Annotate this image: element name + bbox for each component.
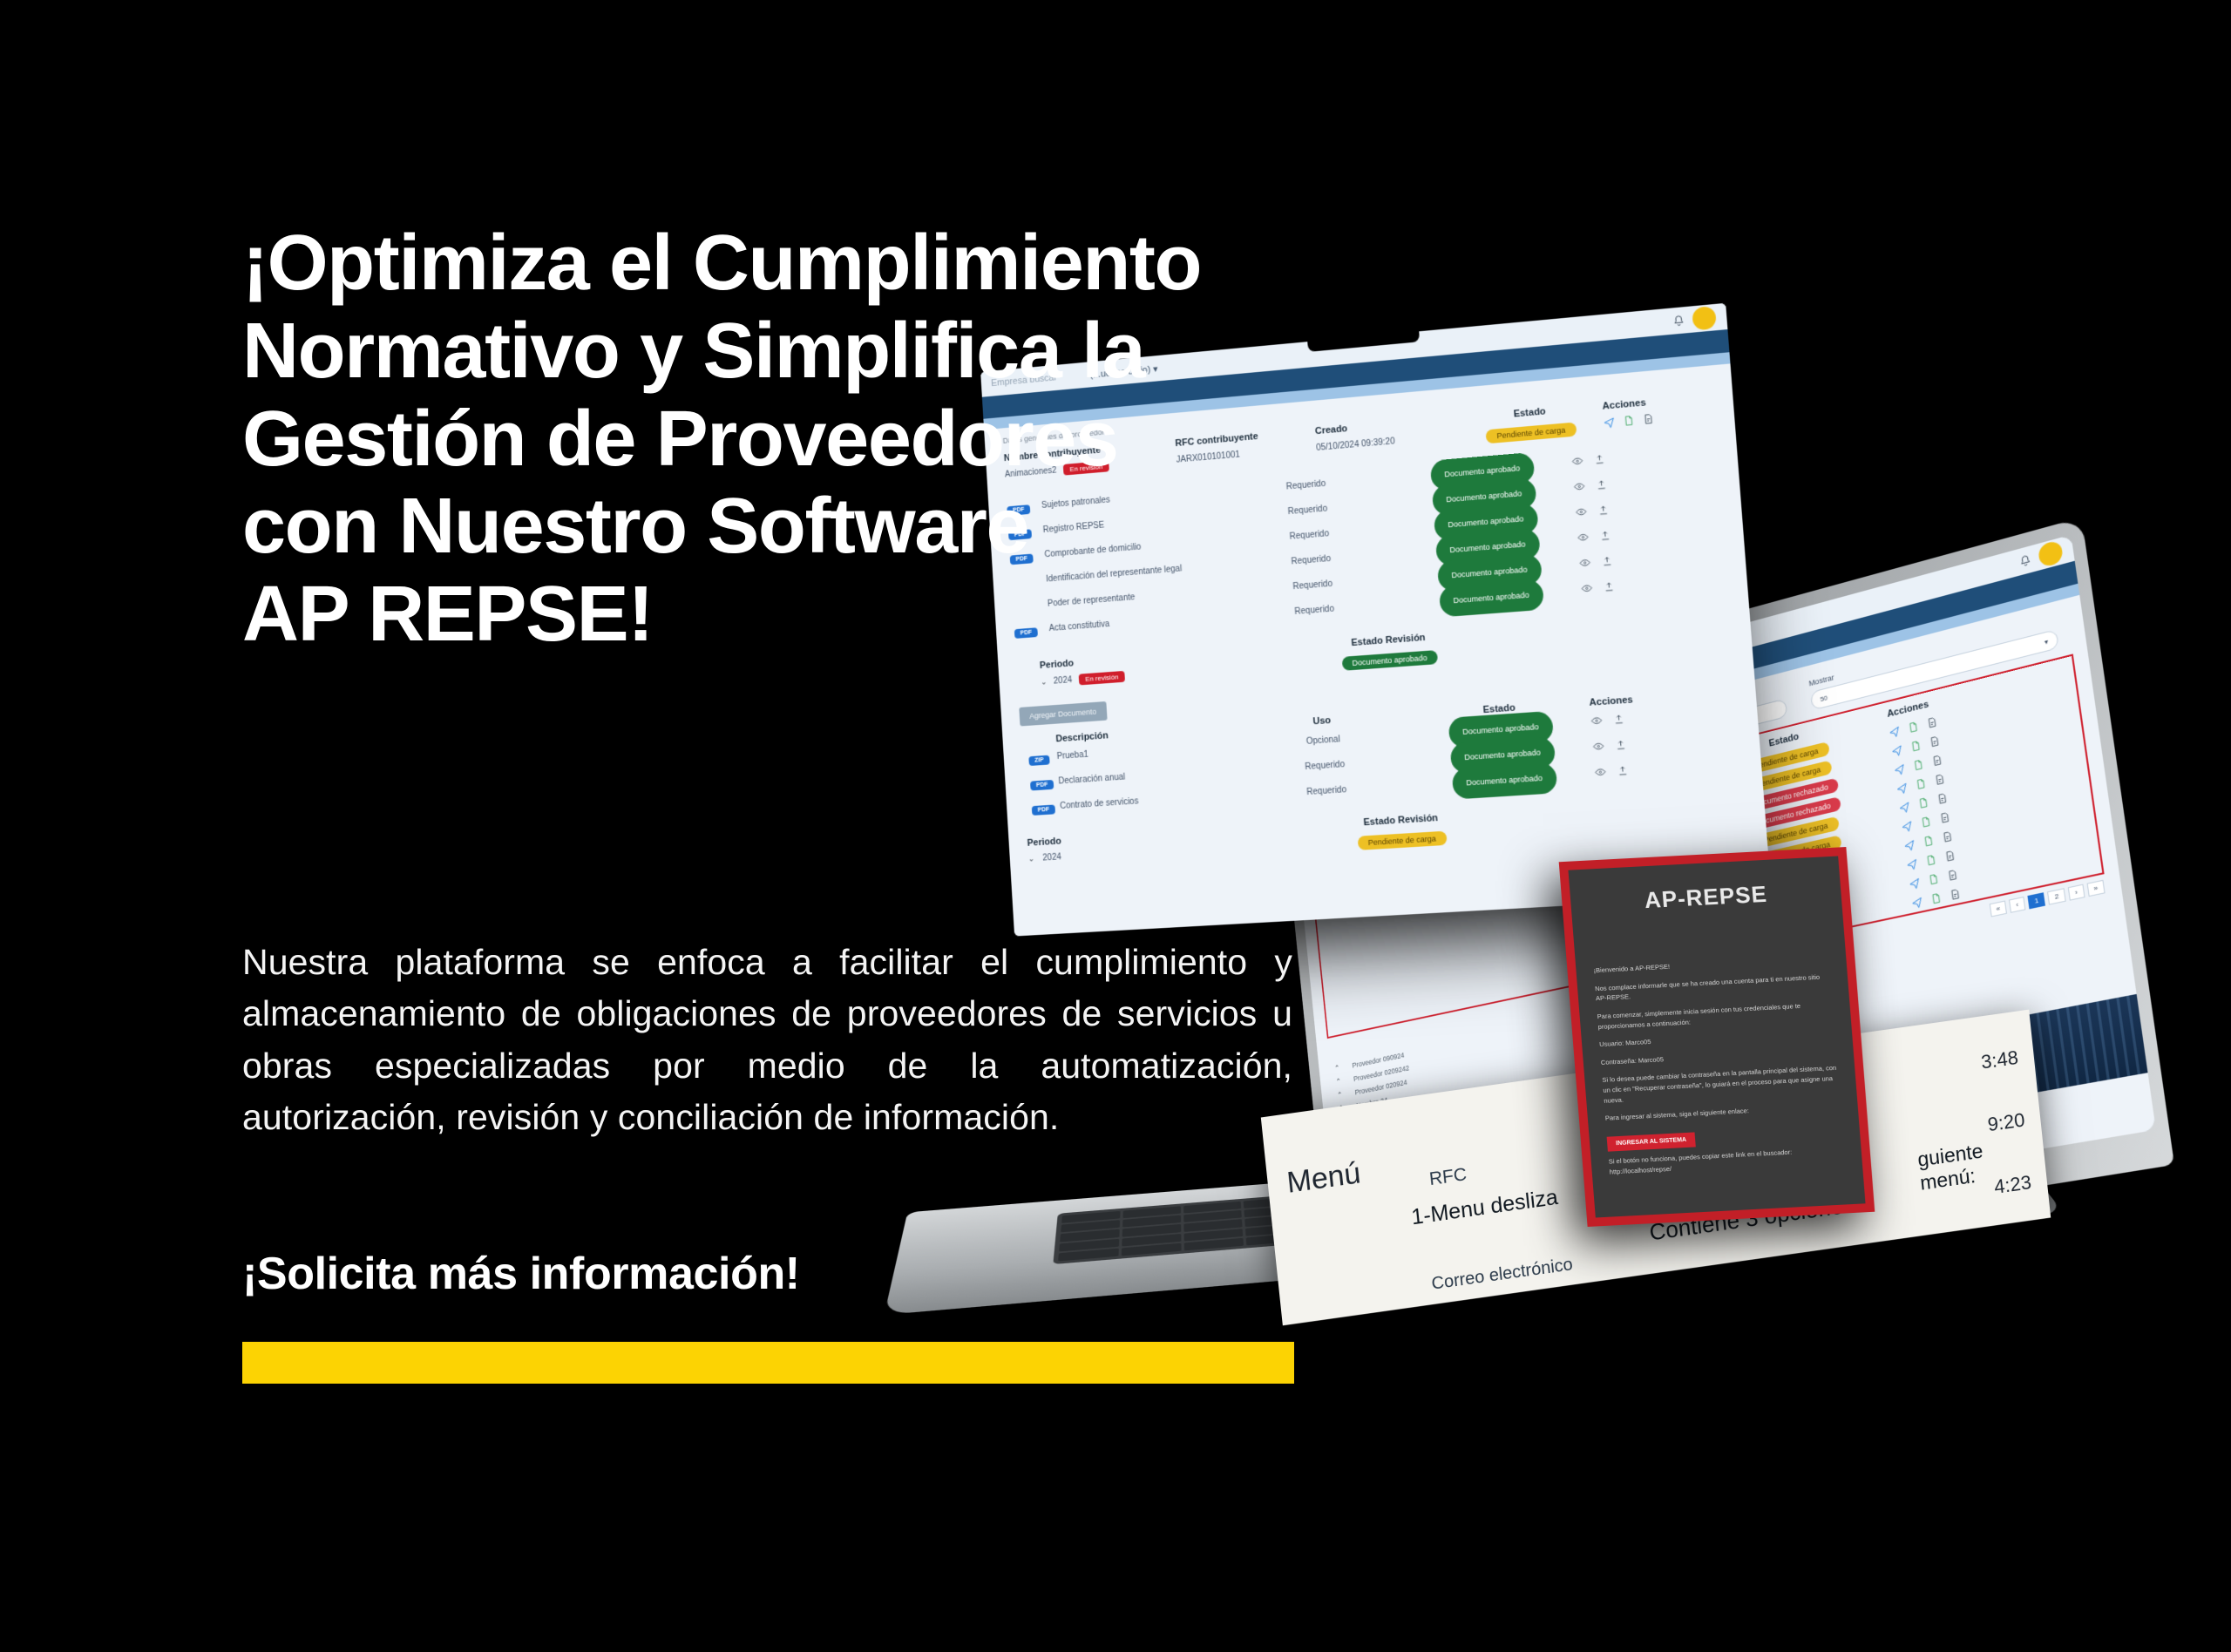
guide-note-1: 1-Menu desliza: [1410, 1185, 1559, 1230]
upload-icon[interactable]: [1614, 739, 1626, 751]
pagination-button[interactable]: ›: [2068, 884, 2085, 901]
eye-icon[interactable]: [1571, 455, 1583, 467]
upload-icon[interactable]: [1597, 504, 1610, 516]
file-type-chip: ZIP: [1028, 755, 1049, 765]
send-icon[interactable]: [1909, 876, 1921, 890]
document-icon[interactable]: [1912, 757, 1924, 771]
edit-document-icon[interactable]: [1947, 868, 1960, 882]
upload-icon[interactable]: [1595, 478, 1607, 491]
email-card-inner: AP-REPSE ¡Bienvenido a AP-REPSE! Nos com…: [1568, 856, 1865, 1218]
edit-document-icon[interactable]: [1643, 413, 1655, 425]
annual-estado-column: Estado Documento aprobadoDocumento aprob…: [1410, 698, 1596, 797]
eye-icon[interactable]: [1581, 582, 1593, 594]
email-paragraph-1: Nos complace informarle que se ha creado…: [1595, 972, 1832, 1004]
period-value: 2024: [1054, 675, 1073, 686]
upload-icon[interactable]: [1599, 530, 1611, 542]
edit-document-icon[interactable]: [1939, 810, 1952, 824]
hero-description: Nuestra plataforma se enfoca a facilitar…: [242, 937, 1292, 1144]
guide-time: 9:20: [1987, 1109, 2026, 1137]
send-icon[interactable]: [1911, 895, 1924, 909]
send-icon[interactable]: [1889, 724, 1901, 738]
period-block-2: Periodo ⌄ 2024: [1027, 824, 1254, 863]
edit-document-icon[interactable]: [1931, 753, 1944, 767]
pagination-button[interactable]: ‹: [2009, 897, 2025, 913]
created-block: Creado 05/10/2024 09:39:20: [1315, 414, 1460, 453]
chevron-up-icon: ⌃: [1337, 1090, 1343, 1100]
documents-estado-column: Documento aprobadoDocumento aprobadoDocu…: [1393, 449, 1582, 614]
status-badge: Documento aprobado: [1341, 650, 1438, 671]
chevron-up-icon: ⌃: [1334, 1063, 1340, 1073]
add-document-button[interactable]: Agregar Documento: [1019, 701, 1107, 727]
document-icon[interactable]: [1922, 834, 1936, 848]
send-icon[interactable]: [1903, 838, 1916, 852]
send-icon[interactable]: [1906, 856, 1918, 870]
document-icon[interactable]: [1930, 891, 1943, 905]
send-icon[interactable]: [1891, 743, 1903, 757]
avatar[interactable]: [1692, 306, 1717, 331]
file-type-chip: PDF: [1032, 804, 1055, 816]
send-icon[interactable]: [1899, 800, 1911, 814]
chevron-up-icon: ⌃: [1335, 1077, 1341, 1087]
upload-icon[interactable]: [1603, 580, 1615, 592]
eye-icon[interactable]: [1592, 741, 1604, 753]
email-paragraph-2: Para comenzar, simplemente inicia sesión…: [1597, 999, 1834, 1032]
guide-field-rfc: RFC: [1428, 1164, 1468, 1190]
guide-time: 3:48: [1980, 1046, 2019, 1074]
period2-value: 2024: [1042, 852, 1061, 863]
email-paragraph-3: Si lo desea puede cambiar la contraseña …: [1602, 1063, 1839, 1106]
send-icon[interactable]: [1894, 762, 1906, 776]
bell-icon[interactable]: [1672, 314, 1686, 328]
upload-icon[interactable]: [1612, 713, 1624, 725]
actions-block: Acciones: [1602, 392, 1714, 429]
page-title: ¡Optimiza el Cumplimiento Normativo y Si…: [242, 220, 1314, 659]
document-icon[interactable]: [1928, 872, 1941, 886]
eye-icon[interactable]: [1577, 531, 1589, 544]
document-icon[interactable]: [1917, 796, 1929, 809]
document-icon[interactable]: [1910, 739, 1922, 753]
accent-bar: [242, 1342, 1294, 1384]
upload-icon[interactable]: [1593, 453, 1605, 465]
eye-icon[interactable]: [1575, 505, 1587, 518]
bell-icon[interactable]: [2017, 552, 2032, 569]
review-block-2: Estado Revisión Pendiente de carga: [1252, 806, 1553, 856]
upload-icon[interactable]: [1601, 555, 1613, 567]
send-icon[interactable]: [1902, 819, 1914, 833]
document-icon[interactable]: [1920, 815, 1933, 829]
guide-menu-title: Menú: [1285, 1156, 1362, 1201]
file-type-chip: PDF: [1030, 779, 1054, 790]
state-block: Estado Pendiente de carga: [1457, 402, 1604, 446]
edit-document-icon[interactable]: [1936, 791, 1950, 805]
hero-copy-column: ¡Optimiza el Cumplimiento Normativo y Si…: [242, 220, 1314, 659]
edit-document-icon[interactable]: [1929, 734, 1942, 748]
document-icon[interactable]: [1915, 776, 1927, 790]
annual-uso-column: Uso OpcionalRequeridoRequerido: [1234, 710, 1415, 808]
send-icon[interactable]: [1604, 416, 1616, 429]
eye-icon[interactable]: [1590, 714, 1603, 727]
eye-icon[interactable]: [1578, 557, 1590, 569]
pagination-button[interactable]: 2: [2047, 888, 2065, 904]
edit-document-icon[interactable]: [1944, 849, 1957, 863]
send-icon[interactable]: [1896, 781, 1909, 795]
email-logo: AP-REPSE: [1587, 877, 1824, 917]
chevron-down-icon: ▾: [2044, 637, 2048, 646]
edit-document-icon[interactable]: [1934, 772, 1947, 786]
annual-descripcion-column: Descripción ZIPPrueba1PDFDeclaración anu…: [1021, 721, 1240, 821]
status-badge: Pendiente de carga: [1357, 831, 1447, 850]
upload-icon[interactable]: [1617, 764, 1629, 776]
show-value: 50: [1820, 694, 1828, 703]
chevron-down-icon[interactable]: ⌄: [1041, 677, 1048, 687]
cta-text: ¡Solicita más información!: [242, 1248, 800, 1300]
guide-time: 4:23: [1993, 1171, 2032, 1199]
status-badge: Documento aprobado: [1451, 762, 1557, 800]
pagination-button[interactable]: «: [1990, 900, 2008, 917]
eye-icon[interactable]: [1594, 766, 1606, 778]
document-icon[interactable]: [1908, 720, 1920, 734]
document-name: Contrato de servicios: [1060, 790, 1239, 811]
document-icon[interactable]: [1623, 415, 1635, 427]
chevron-down-icon[interactable]: ⌄: [1027, 854, 1034, 863]
pagination-button[interactable]: 1: [2027, 892, 2045, 909]
document-icon[interactable]: [1925, 853, 1938, 867]
eye-icon[interactable]: [1573, 480, 1585, 492]
edit-document-icon[interactable]: [1950, 887, 1963, 901]
status-badge: Pendiente de carga: [1486, 423, 1577, 444]
annual-acciones-column: Acciones: [1589, 687, 1742, 785]
status-badge: En revisión: [1078, 671, 1125, 686]
edit-document-icon[interactable]: [1942, 829, 1955, 843]
pagination-button[interactable]: »: [2086, 880, 2106, 897]
documents-actions-column: [1570, 437, 1727, 601]
edit-document-icon[interactable]: [1926, 715, 1939, 729]
enter-system-button[interactable]: INGRESAR AL SISTEMA: [1607, 1132, 1696, 1151]
email-paragraph-4: Para ingresar al sistema, siga el siguie…: [1605, 1101, 1841, 1124]
document-name: Declaración anual: [1058, 765, 1238, 786]
welcome-email-card: AP-REPSE ¡Bienvenido a AP-REPSE! Nos com…: [1559, 847, 1875, 1227]
status-badge: Documento aprobado: [1439, 579, 1544, 617]
